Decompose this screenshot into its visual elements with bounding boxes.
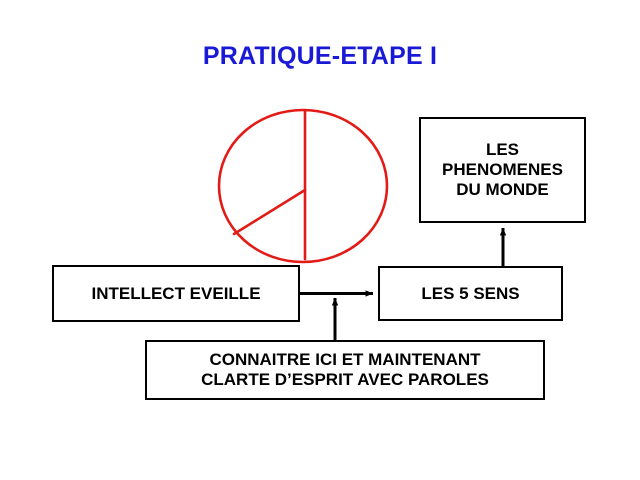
box-connaitre-line-1: CONNAITRE ICI ET MAINTENANT — [201, 350, 489, 370]
box-intellect-line-1: INTELLECT EVEILLE — [91, 284, 260, 304]
pie-circle-group — [219, 110, 387, 262]
pie-spoke-lower-left-icon — [234, 190, 305, 234]
pie-circle-outline — [219, 110, 387, 262]
slide-canvas: PRATIQUE-ETAPE I LES PHENOMENES DU MONDE — [0, 0, 640, 480]
box-connaitre-line-2: CLARTE D’ESPRIT AVEC PAROLES — [201, 370, 489, 390]
box-les-5-sens: LES 5 SENS — [378, 266, 563, 321]
diagram-connectors — [0, 0, 640, 480]
box-5-sens-line-1: LES 5 SENS — [421, 284, 519, 304]
box-phenomenes-line-2: PHENOMENES — [442, 160, 563, 180]
box-connaitre-ici-et-maintenant: CONNAITRE ICI ET MAINTENANT CLARTE D’ESP… — [145, 340, 545, 400]
box-connaitre-label: CONNAITRE ICI ET MAINTENANT CLARTE D’ESP… — [201, 350, 489, 389]
box-phenomenes-line-3: DU MONDE — [442, 180, 563, 200]
box-5-sens-label: LES 5 SENS — [421, 284, 519, 304]
box-intellect-eveille: INTELLECT EVEILLE — [52, 265, 300, 322]
box-les-phenomenes-du-monde: LES PHENOMENES DU MONDE — [419, 117, 586, 223]
box-phenomenes-line-1: LES — [442, 140, 563, 160]
box-phenomenes-label: LES PHENOMENES DU MONDE — [442, 140, 563, 199]
box-intellect-label: INTELLECT EVEILLE — [91, 284, 260, 304]
